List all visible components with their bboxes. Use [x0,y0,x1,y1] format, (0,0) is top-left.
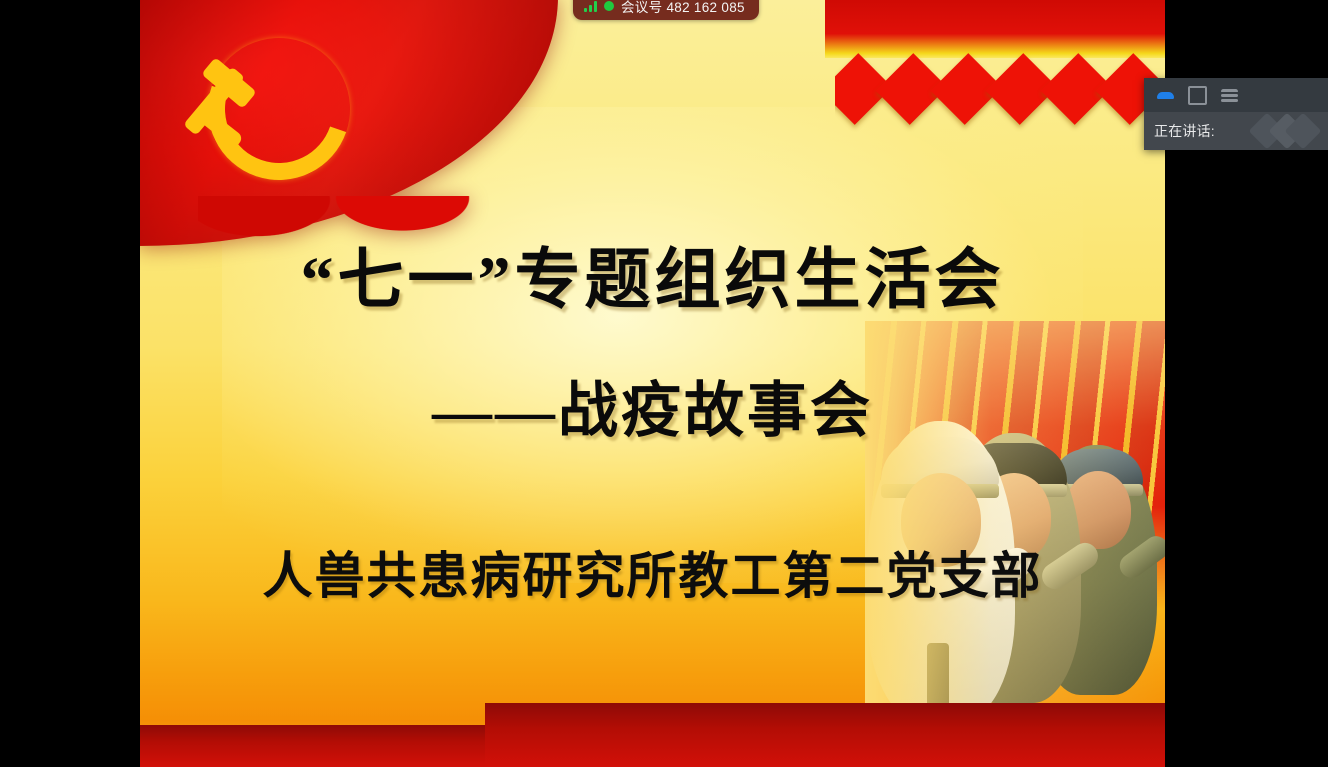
minimize-button[interactable] [1152,83,1178,107]
screen-share-viewport: “七一”专题组织生活会 ——战疫故事会 人兽共患病研究所教工第二党支部 会议号 … [0,0,1328,767]
slide-title-main: “七一”专题组织生活会 [140,226,1165,322]
minimize-icon [1157,92,1174,99]
meeting-id-text: 会议号 482 162 085 [621,0,745,16]
active-speaker-label: 正在讲话: [1154,121,1215,141]
menu-button[interactable] [1216,83,1242,107]
shared-slide: “七一”专题组织生活会 ——战疫故事会 人兽共患病研究所教工第二党支部 [140,0,1165,767]
status-dot-icon [604,1,614,11]
control-panel-body: 正在讲话: [1144,112,1328,150]
slide-organization: 人兽共患病研究所教工第二党支部 [140,536,1165,608]
restore-window-icon [1188,86,1207,105]
app-logo-watermark-icon [1254,118,1312,144]
meeting-control-panel[interactable]: 正在讲话: [1144,78,1328,150]
signal-bars-icon [584,1,597,12]
control-panel-toolbar [1144,78,1328,112]
meeting-id-badge[interactable]: 会议号 482 162 085 [573,0,759,20]
restore-window-button[interactable] [1184,83,1210,107]
slide-text-block: “七一”专题组织生活会 ——战疫故事会 人兽共患病研究所教工第二党支部 [140,0,1165,767]
slide-title-sub: ——战疫故事会 [140,362,1165,449]
hamburger-menu-icon [1221,89,1238,102]
